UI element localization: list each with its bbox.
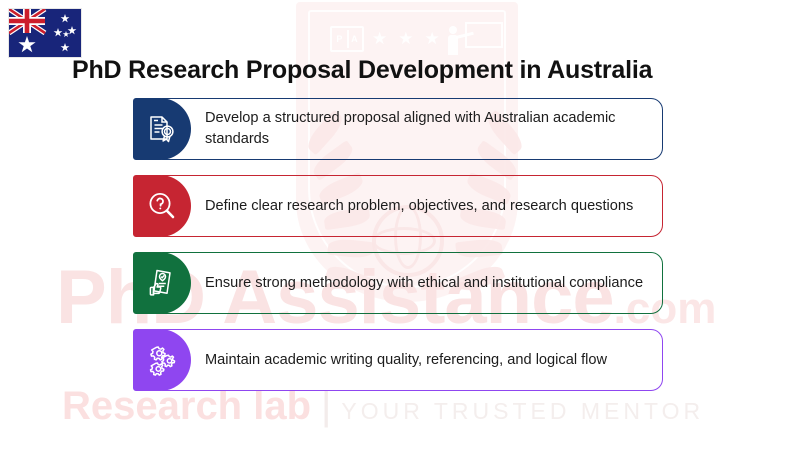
certificate-document-icon xyxy=(145,112,179,146)
teacher-body-shape xyxy=(448,35,458,55)
teacher-head-shape xyxy=(449,26,457,34)
star-icon: ★ xyxy=(372,30,387,47)
watermark-book-icon: P A xyxy=(330,26,364,52)
gears-icon xyxy=(145,343,179,377)
watermark-book-spine xyxy=(347,30,349,48)
card-text: Maintain academic writing quality, refer… xyxy=(205,329,649,391)
question-magnifier-icon xyxy=(145,189,179,223)
list-item[interactable]: Ensure strong methodology with ethical a… xyxy=(133,252,663,314)
chalkboard-shape xyxy=(465,22,503,48)
list-item[interactable]: Define clear research problem, objective… xyxy=(133,175,663,237)
card-text: Define clear research problem, objective… xyxy=(205,175,649,237)
star-icon: ★ xyxy=(398,30,413,47)
teacher-arm-shape xyxy=(456,32,474,39)
list-item[interactable]: Develop a structured proposal aligned wi… xyxy=(133,98,663,160)
document-thumbs-up-icon xyxy=(145,266,179,300)
watermark-stars: ★ ★ ★ xyxy=(372,30,440,47)
watermark-book-letter-right: A xyxy=(351,34,358,44)
slide-canvas: P A ★ ★ ★ xyxy=(0,0,800,450)
star-icon: ★ xyxy=(425,30,440,47)
list-item[interactable]: Maintain academic writing quality, refer… xyxy=(133,329,663,391)
points-list: Develop a structured proposal aligned wi… xyxy=(133,98,663,406)
watermark-teacher-board-icon xyxy=(445,22,503,56)
card-text: Develop a structured proposal aligned wi… xyxy=(205,98,649,160)
australia-flag-icon xyxy=(8,8,82,58)
card-text: Ensure strong methodology with ethical a… xyxy=(205,252,649,314)
watermark-book-letter-left: P xyxy=(336,34,342,44)
page-title: PhD Research Proposal Development in Aus… xyxy=(72,56,772,85)
